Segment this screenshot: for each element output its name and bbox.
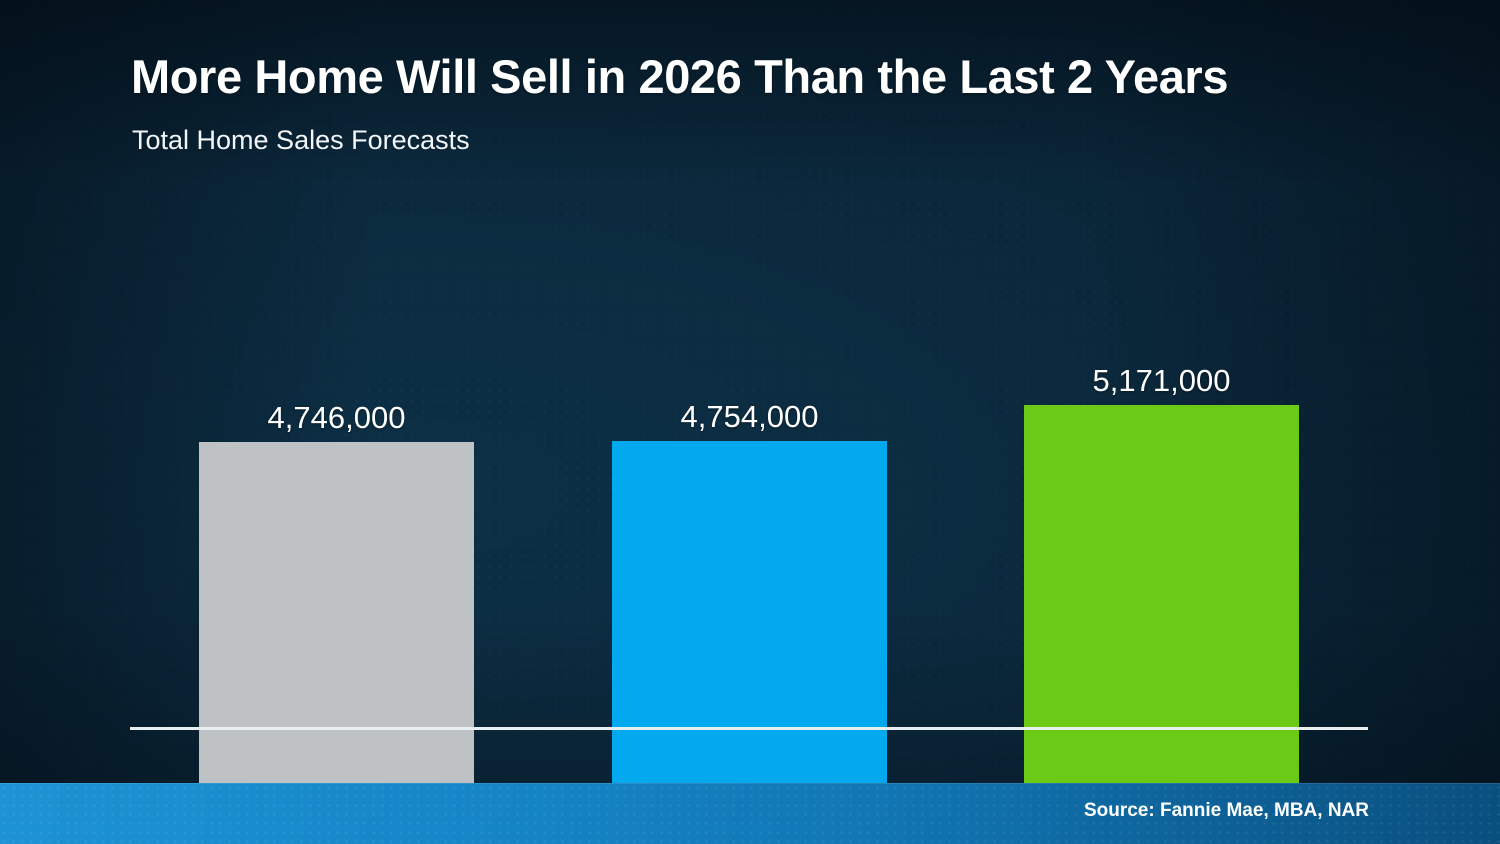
footer-band: Source: Fannie Mae, MBA, NAR (0, 783, 1500, 844)
bar-group-2026: 5,171,000 2026 Forecast (1024, 117, 1299, 844)
chart-baseline-axis (130, 727, 1368, 730)
bar-group-2024: 4,746,000 2024 (199, 117, 474, 844)
bar-group-2025: 4,754,000 2025 (Projected) (612, 117, 887, 844)
slide-canvas: More Home Will Sell in 2026 Than the Las… (0, 0, 1500, 844)
source-attribution: Source: Fannie Mae, MBA, NAR (1084, 800, 1369, 822)
bar-value-label: 5,171,000 (1093, 363, 1231, 399)
bar-value-label: 4,754,000 (681, 399, 819, 435)
bar-value-label: 4,746,000 (268, 400, 406, 436)
bar-rect-2026[interactable] (1024, 405, 1299, 844)
bar-chart: 4,746,000 2024 4,754,000 2025 (Projected… (0, 0, 1500, 844)
footer-top-edge (0, 783, 1500, 784)
